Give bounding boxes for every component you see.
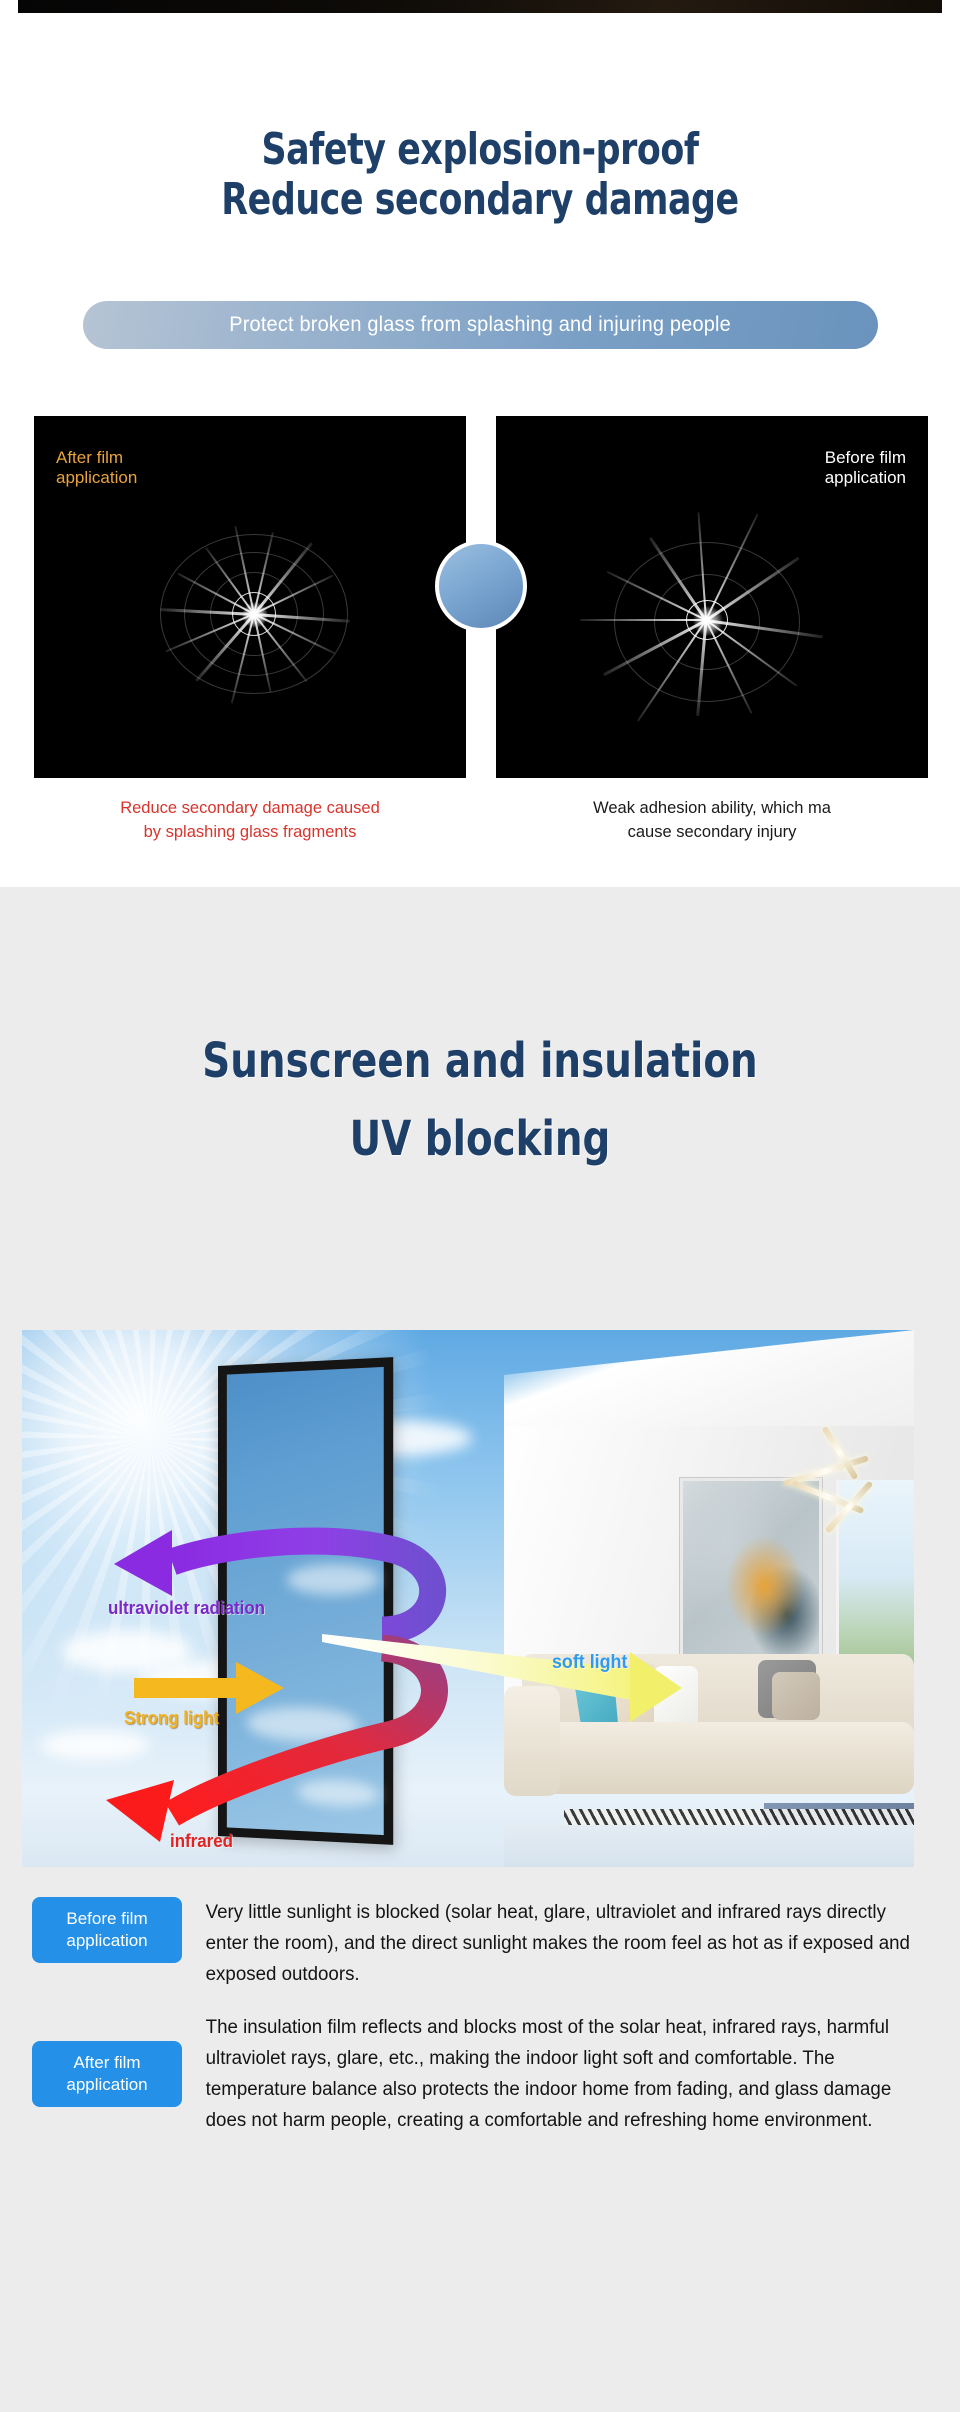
section1-headline: Safety explosion-proof Reduce secondary … (58, 125, 903, 225)
photo-before-film: Before film application (496, 416, 928, 778)
cushion-taupe (772, 1672, 820, 1720)
subtitle-pill-text: Protect broken glass from splashing and … (230, 313, 732, 337)
center-circle-badge (435, 540, 527, 632)
floor-strip (504, 1825, 914, 1867)
explanation-row-before: Before film application Very little sunl… (0, 1897, 960, 1990)
badge-after-film-application: After film application (32, 2041, 182, 2107)
section2-headline-line-1: Sunscreen and insulation (48, 1022, 912, 1100)
crack-art-after (154, 534, 354, 694)
label-ultraviolet-radiation: ultraviolet radiation (108, 1598, 265, 1619)
explanation-row-after: After film application The insulation fi… (0, 2012, 960, 2136)
label-infrared: infrared (170, 1831, 233, 1852)
interior-room-photo (504, 1330, 914, 1867)
label-strong-light: Strong light (124, 1708, 219, 1729)
product-detail-page: Safety explosion-proof Reduce secondary … (0, 0, 960, 2412)
subtitle-pill: Protect broken glass from splashing and … (83, 301, 878, 349)
comparison-photos: After film application (34, 416, 928, 778)
chandelier-light (776, 1442, 896, 1538)
photo-before-film-label: Before film application (825, 448, 906, 488)
photo-after-film: After film application (34, 416, 466, 778)
sofa-seat (512, 1722, 914, 1794)
cloud-icon (40, 1730, 150, 1760)
headline-line-1: Safety explosion-proof (261, 124, 698, 175)
explanation-text-after: The insulation film reflects and blocks … (182, 2012, 917, 2136)
photo-after-film-label: After film application (56, 448, 137, 488)
uv-blocking-illustration: ultraviolet radiation Strong light infra… (22, 1330, 914, 1867)
label-soft-light: soft light (552, 1652, 627, 1674)
photo-before-film-caption: Weak adhesion ability, which ma cause se… (496, 796, 928, 844)
top-black-bar (18, 0, 942, 13)
crack-art-before (592, 524, 822, 714)
section2-headline: Sunscreen and insulation UV blocking (48, 1022, 912, 1178)
badge-before-film-application: Before film application (32, 1897, 182, 1963)
photo-after-film-caption: Reduce secondary damage caused by splash… (34, 796, 466, 844)
sunscreen-insulation-section: Sunscreen and insulation UV blocking (0, 887, 960, 2412)
safety-explosion-proof-section: Safety explosion-proof Reduce secondary … (0, 13, 960, 887)
section2-headline-line-2: UV blocking (48, 1100, 912, 1178)
headline-line-2: Reduce secondary damage (58, 175, 903, 225)
explanation-list: Before film application Very little sunl… (0, 1897, 960, 2158)
sofa-arm (504, 1686, 560, 1796)
explanation-text-before: Very little sunlight is blocked (solar h… (182, 1897, 917, 1990)
